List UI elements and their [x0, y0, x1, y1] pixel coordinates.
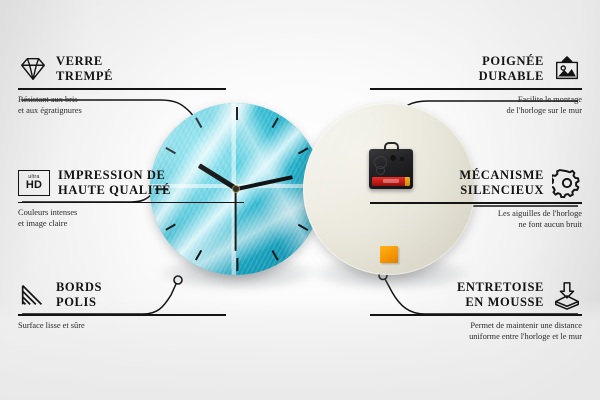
- feature-description: Les aiguilles de l'horloge ne font aucun…: [370, 208, 582, 230]
- feature-title-line2: DURABLE: [479, 69, 544, 83]
- feature-title: POIGNÉE DURABLE: [479, 54, 544, 84]
- feature-desc-line1: Facilite le montage: [518, 95, 582, 104]
- feature-title-line1: ENTRETOISE: [457, 280, 544, 294]
- diamond-icon: [18, 54, 48, 84]
- picture-hanger-icon: [552, 54, 582, 84]
- infographic-canvas: VERRE TREMPÉ Résistant aux bris et aux é…: [0, 0, 600, 400]
- gear-icon: [552, 168, 582, 198]
- feature-description: Surface lisse et sûre: [18, 320, 226, 331]
- feature-header: BORDS POLIS: [18, 280, 226, 310]
- feature-header: ultra HD IMPRESSION DE HAUTE QUALITÉ: [18, 168, 244, 198]
- feature-desc-line2: uniforme entre l'horloge et le mur: [469, 332, 582, 341]
- feature-title-line2: HAUTE QUALITÉ: [58, 183, 171, 197]
- feature-desc-line2: et aux égratignures: [18, 106, 82, 115]
- feature-poignee-durable: POIGNÉE DURABLE Facilite le montage de l…: [370, 54, 582, 116]
- feature-verre-trempe: VERRE TREMPÉ Résistant aux bris et aux é…: [18, 54, 226, 116]
- feature-description: Couleurs intenses et image claire: [18, 207, 244, 229]
- feature-divider: [370, 202, 582, 204]
- mechanism-screw: [390, 155, 396, 161]
- feature-description: Résistant aux bris et aux égratignures: [18, 94, 226, 116]
- feature-title-line2: TREMPÉ: [56, 69, 113, 83]
- mechanism-screw-2: [400, 157, 404, 161]
- feature-title: ENTRETOISE EN MOUSSE: [457, 280, 544, 310]
- feature-desc-line1: Surface lisse et sûre: [18, 321, 85, 330]
- feature-title-line2: SILENCIEUX: [460, 183, 544, 197]
- feature-title: MÉCANISME SILENCIEUX: [459, 168, 544, 198]
- ultra-hd-badge-icon: ultra HD: [18, 170, 50, 196]
- feature-title-line1: VERRE: [56, 54, 103, 68]
- feature-title: VERRE TREMPÉ: [56, 54, 113, 84]
- feature-desc-line2: de l'horloge sur le mur: [507, 106, 582, 115]
- hanger-tab-icon: [384, 142, 399, 151]
- feature-title-line1: BORDS: [56, 280, 102, 294]
- feature-divider: [18, 88, 226, 90]
- feature-desc-line2: et image claire: [18, 219, 67, 228]
- feature-desc-line1: Permet de maintenir une distance: [470, 321, 582, 330]
- feature-impression-haute-qualite: ultra HD IMPRESSION DE HAUTE QUALITÉ Cou…: [18, 168, 244, 229]
- feature-divider: [18, 314, 226, 316]
- feature-title-line1: IMPRESSION DE: [58, 168, 165, 182]
- feature-title: BORDS POLIS: [56, 280, 102, 310]
- feature-title-line1: MÉCANISME: [459, 168, 544, 182]
- feature-desc-line1: Couleurs intenses: [18, 208, 77, 217]
- diagonal-lines-icon: [18, 280, 48, 310]
- feature-divider: [370, 314, 582, 316]
- feature-bords-polis: BORDS POLIS Surface lisse et sûre: [18, 280, 226, 331]
- feature-description: Permet de maintenir une distance uniform…: [370, 320, 582, 342]
- arrow-into-stack-icon: [552, 280, 582, 310]
- feature-divider: [370, 88, 582, 90]
- feature-title: IMPRESSION DE HAUTE QUALITÉ: [58, 168, 171, 198]
- feature-title-line1: POIGNÉE: [482, 54, 544, 68]
- feature-title-line2: POLIS: [56, 295, 97, 309]
- ultra-hd-badge-large: HD: [26, 180, 42, 191]
- feature-divider: [18, 202, 244, 204]
- foam-spacer: [380, 246, 398, 263]
- feature-desc-line2: ne font aucun bruit: [519, 220, 583, 229]
- feature-header: ENTRETOISE EN MOUSSE: [370, 280, 582, 310]
- feature-desc-line1: Résistant aux bris: [18, 95, 78, 104]
- feature-title-line2: EN MOUSSE: [465, 295, 544, 309]
- feature-entretoise-en-mousse: ENTRETOISE EN MOUSSE Permet de maintenir…: [370, 280, 582, 342]
- feature-mecanisme-silencieux: MÉCANISME SILENCIEUX Les aiguilles de l'…: [370, 168, 582, 230]
- feature-description: Facilite le montage de l'horloge sur le …: [370, 94, 582, 116]
- feature-header: POIGNÉE DURABLE: [370, 54, 582, 84]
- feature-header: VERRE TREMPÉ: [18, 54, 226, 84]
- feature-header: MÉCANISME SILENCIEUX: [370, 168, 582, 198]
- feature-desc-line1: Les aiguilles de l'horloge: [498, 209, 582, 218]
